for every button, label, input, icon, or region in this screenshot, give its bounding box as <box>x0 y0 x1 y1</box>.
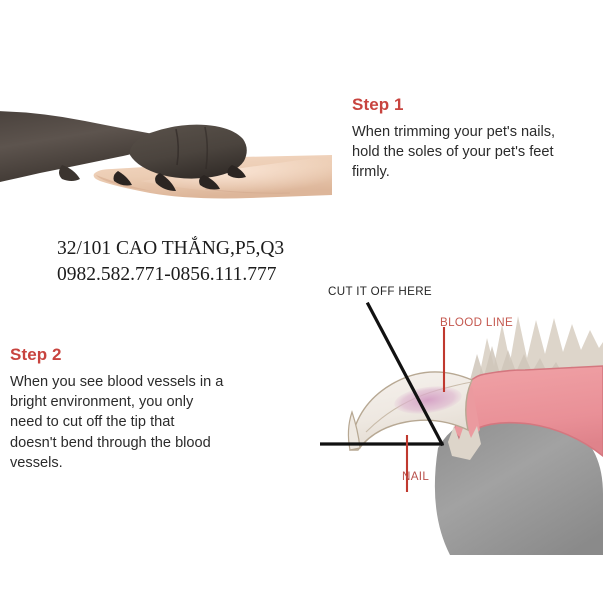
contact-info: 32/101 CAO THẮNG,P5,Q3 0982.582.771-0856… <box>57 236 357 287</box>
store-phone: 0982.582.771-0856.111.777 <box>57 262 357 288</box>
step-2-heading: Step 2 <box>10 346 268 365</box>
step-1-heading: Step 1 <box>352 96 602 115</box>
blood-line-label: BLOOD LINE <box>440 316 513 329</box>
nail-label: NAIL <box>402 470 429 483</box>
step-2-body: When you see blood vessels in a bright e… <box>10 372 268 473</box>
step-1-body: When trimming your pet's nails, hold the… <box>352 122 602 183</box>
cut-it-off-here-label: CUT IT OFF HERE <box>328 285 432 298</box>
infographic-page: Step 1 When trimming your pet's nails, h… <box>0 0 603 603</box>
step-1-block: Step 1 When trimming your pet's nails, h… <box>352 96 602 183</box>
step-2-block: Step 2 When you see blood vessels in a b… <box>10 346 268 473</box>
paw-photo-illustration <box>0 103 332 209</box>
dog-paw-on-human-hand-photo <box>0 103 332 209</box>
nail-trimming-cut-line-diagram: CUT IT OFF HERE BLOOD LINE NAIL <box>320 280 603 555</box>
store-address: 32/101 CAO THẮNG,P5,Q3 <box>57 236 357 262</box>
